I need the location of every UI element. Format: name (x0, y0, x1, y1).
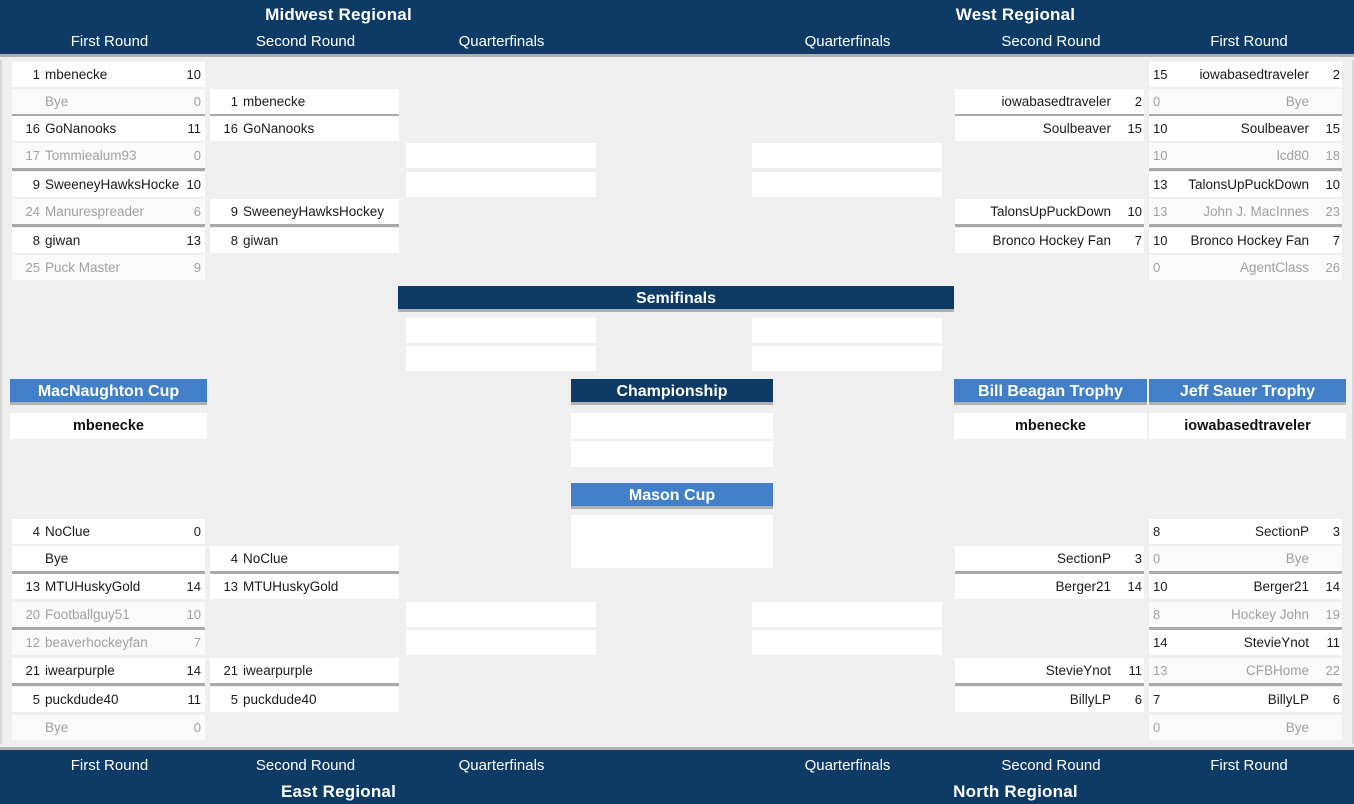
score: 10 (179, 602, 201, 627)
competitor-name: giwan (45, 228, 179, 253)
north-quarterfinal-slot-2[interactable] (752, 630, 942, 655)
match-slot[interactable]: 9 SweeneyHawksHockey (210, 199, 399, 224)
match-divider (955, 683, 1144, 686)
region-title-midwest: Midwest Regional (0, 5, 677, 25)
seed: 21 (212, 658, 238, 683)
score: 14 (1153, 630, 1175, 655)
match-slot[interactable]: 0 Bye (1149, 546, 1342, 571)
match-slot[interactable]: 1 mbenecke 10 (12, 62, 205, 87)
competitor-name: mbenecke (45, 62, 179, 87)
seed: 2 (1314, 62, 1340, 87)
competitor-name: SweeneyHawksHockey (243, 199, 395, 224)
match-slot[interactable]: 7 BillyLP 6 (1149, 687, 1342, 712)
match-divider (210, 224, 399, 227)
score: 9 (179, 255, 201, 280)
score: 10 (179, 62, 201, 87)
region-title-west: West Regional (677, 5, 1354, 25)
match-slot[interactable]: 8 Hockey John 19 (1149, 602, 1342, 627)
seed: 24 (14, 199, 40, 224)
competitor-name: StevieYnot (1175, 630, 1309, 655)
seed: 18 (1314, 143, 1340, 168)
competitor-name: Bye (1175, 715, 1309, 740)
match-slot[interactable]: 14 StevieYnot 11 (1149, 630, 1342, 655)
match-slot[interactable]: 6 BillyLP (955, 687, 1144, 712)
seed: 6 (1314, 687, 1340, 712)
match-slot[interactable]: 0 Bye (1149, 715, 1342, 740)
score: 6 (179, 199, 201, 224)
round-label-top-3: Quarterfinals (404, 33, 599, 50)
competitor-name: Footballguy51 (45, 602, 179, 627)
match-slot[interactable]: 10 Soulbeaver 15 (1149, 116, 1342, 141)
jeff-sauer-trophy-banner: Jeff Sauer Trophy (1149, 379, 1346, 405)
competitor-name: TalonsUpPuckDown (1175, 172, 1309, 197)
mason-cup-banner: Mason Cup (571, 483, 773, 509)
competitor-name: lcd80 (1175, 143, 1309, 168)
seed: 16 (212, 116, 238, 141)
seed: 25 (14, 255, 40, 280)
competitor-name: GoNanooks (45, 116, 179, 141)
competitor-name: Soulbeaver (959, 116, 1111, 141)
match-slot[interactable]: 24 Manurespreader 6 (12, 199, 205, 224)
match-slot[interactable]: 8 giwan (210, 228, 399, 253)
seed: 2 (1116, 89, 1142, 114)
match-slot[interactable]: 15 iowabasedtraveler 2 (1149, 62, 1342, 87)
competitor-name: Berger21 (959, 574, 1111, 599)
match-divider (12, 168, 205, 171)
seed: 3 (1314, 519, 1340, 544)
score: 13 (179, 228, 201, 253)
competitor-name: Manurespreader (45, 199, 179, 224)
left-edge-rule (0, 60, 2, 744)
seed: 13 (14, 574, 40, 599)
match-slot[interactable]: 10 Berger21 14 (1149, 574, 1342, 599)
seed: 14 (1116, 574, 1142, 599)
score: 7 (179, 630, 201, 655)
match-slot[interactable]: 7 Bronco Hockey Fan (955, 228, 1144, 253)
region-title-north: North Regional (677, 782, 1354, 802)
semifinal-slot-left-1[interactable] (406, 318, 596, 343)
seed: 4 (14, 519, 40, 544)
match-slot[interactable]: 13 MTUHuskyGold 14 (12, 574, 205, 599)
west-quarterfinal-slot-2[interactable] (752, 172, 942, 197)
match-slot[interactable]: 12 beaverhockeyfan 7 (12, 630, 205, 655)
seed: 22 (1314, 658, 1340, 683)
competitor-name: MTUHuskyGold (243, 574, 395, 599)
match-slot[interactable]: 10 TalonsUpPuckDown (955, 199, 1144, 224)
seed: 5 (212, 687, 238, 712)
score: 15 (1153, 62, 1175, 87)
match-slot[interactable]: 15 Soulbeaver (955, 116, 1144, 141)
macnaughton-cup-winner: mbenecke (10, 413, 207, 439)
match-slot[interactable]: 20 Footballguy51 10 (12, 602, 205, 627)
competitor-name: mbenecke (243, 89, 395, 114)
competitor-name: SectionP (1175, 519, 1309, 544)
competitor-name: GoNanooks (243, 116, 395, 141)
round-label-top-5: Second Round (952, 33, 1150, 50)
score: 10 (179, 172, 201, 197)
seed: 9 (212, 199, 238, 224)
match-slot[interactable]: 5 puckdude40 (210, 687, 399, 712)
match-slot[interactable]: 16 GoNanooks 11 (12, 116, 205, 141)
match-slot[interactable]: 21 iwearpurple (210, 658, 399, 683)
score: 8 (1153, 602, 1175, 627)
east-quarterfinal-slot-1[interactable] (406, 602, 596, 627)
competitor-name: AgentClass (1175, 255, 1309, 280)
competitor-name: TalonsUpPuckDown (959, 199, 1111, 224)
score: 10 (1153, 143, 1175, 168)
bill-beagan-trophy-banner: Bill Beagan Trophy (954, 379, 1147, 405)
score: 13 (1153, 172, 1175, 197)
round-label-bottom-3: Quarterfinals (404, 757, 599, 774)
region-title-east: East Regional (0, 782, 677, 802)
seed: 23 (1314, 199, 1340, 224)
score: 0 (179, 715, 201, 740)
competitor-name: puckdude40 (243, 687, 395, 712)
match-slot[interactable]: 8 giwan 13 (12, 228, 205, 253)
score: 0 (1153, 715, 1175, 740)
bill-beagan-trophy-winner: mbenecke (954, 413, 1147, 439)
competitor-name: BillyLP (959, 687, 1111, 712)
score: 11 (179, 116, 201, 141)
score: 0 (179, 89, 201, 114)
match-slot[interactable]: 9 SweeneyHawksHockey 10 (12, 172, 205, 197)
seed: 11 (1314, 630, 1340, 655)
match-slot[interactable]: 10 Bronco Hockey Fan 7 (1149, 228, 1342, 253)
competitor-name: Bye (45, 89, 179, 114)
championship-slot-2[interactable] (571, 441, 773, 467)
east-quarterfinal-slot-2[interactable] (406, 630, 596, 655)
semifinal-slot-right-1[interactable] (752, 318, 942, 343)
round-label-top-2: Second Round (208, 33, 403, 50)
seed: 7 (1116, 228, 1142, 253)
competitor-name: giwan (243, 228, 395, 253)
score: 8 (1153, 519, 1175, 544)
score: 10 (1153, 228, 1175, 253)
seed: 16 (14, 116, 40, 141)
seed: 7 (1314, 228, 1340, 253)
seed: 1 (14, 62, 40, 87)
match-slot[interactable]: 16 GoNanooks (210, 116, 399, 141)
competitor-name: Soulbeaver (1175, 116, 1309, 141)
match-slot[interactable]: 1 mbenecke (210, 89, 399, 114)
match-slot[interactable]: 4 NoClue (210, 546, 399, 571)
round-label-bottom-2: Second Round (208, 757, 403, 774)
match-divider (1149, 683, 1342, 686)
competitor-name: iowabasedtraveler (959, 89, 1111, 114)
competitor-name: iowabasedtraveler (1175, 62, 1309, 87)
seed: 3 (1116, 546, 1142, 571)
match-slot[interactable]: 0 AgentClass 26 (1149, 255, 1342, 280)
score: 0 (179, 519, 201, 544)
seed: 6 (1116, 687, 1142, 712)
competitor-name: Bye (1175, 546, 1309, 571)
match-slot[interactable]: 25 Puck Master 9 (12, 255, 205, 280)
match-divider (210, 683, 399, 686)
match-slot[interactable]: 8 SectionP 3 (1149, 519, 1342, 544)
competitor-name: Hockey John (1175, 602, 1309, 627)
match-slot[interactable]: 17 Tommiealum93 0 (12, 143, 205, 168)
mason-cup-slot[interactable] (571, 515, 773, 568)
seed: 19 (1314, 602, 1340, 627)
competitor-name: MTUHuskyGold (45, 574, 179, 599)
match-slot[interactable]: Bye (12, 546, 205, 571)
seed: 15 (1314, 116, 1340, 141)
round-label-bottom-5: Second Round (952, 757, 1150, 774)
competitor-name: SweeneyHawksHockey (45, 172, 179, 197)
top-header-bar: Midwest Regional West Regional First Rou… (0, 0, 1354, 57)
jeff-sauer-trophy-winner: iowabasedtraveler (1149, 413, 1346, 439)
round-label-top-1: First Round (12, 33, 207, 50)
competitor-name: John J. MacInnes (1175, 199, 1309, 224)
match-divider (12, 683, 205, 686)
competitor-name: Bye (45, 546, 179, 571)
semifinal-slot-left-2[interactable] (406, 346, 596, 371)
seed: 15 (1116, 116, 1142, 141)
seed: 20 (14, 602, 40, 627)
score: 13 (1153, 658, 1175, 683)
competitor-name: Bronco Hockey Fan (959, 228, 1111, 253)
match-slot[interactable]: 14 Berger21 (955, 574, 1144, 599)
match-slot[interactable]: 5 puckdude40 11 (12, 687, 205, 712)
competitor-name: Bye (1175, 89, 1309, 114)
round-label-bottom-1: First Round (12, 757, 207, 774)
semifinals-banner: Semifinals (398, 286, 954, 312)
match-slot[interactable]: Bye 0 (12, 89, 205, 114)
match-slot[interactable]: 13 CFBHome 22 (1149, 658, 1342, 683)
seed: 9 (14, 172, 40, 197)
midwest-quarterfinal-slot-2[interactable] (406, 172, 596, 197)
seed: 1 (212, 89, 238, 114)
seed: 10 (1116, 199, 1142, 224)
round-label-top-4: Quarterfinals (750, 33, 945, 50)
match-slot[interactable]: 13 TalonsUpPuckDown 10 (1149, 172, 1342, 197)
score: 0 (1153, 255, 1175, 280)
seed: 8 (212, 228, 238, 253)
score: 10 (1153, 574, 1175, 599)
seed: 10 (1314, 172, 1340, 197)
seed: 17 (14, 143, 40, 168)
competitor-name: NoClue (243, 546, 395, 571)
competitor-name: Berger21 (1175, 574, 1309, 599)
match-divider (955, 224, 1144, 227)
seed: 11 (1116, 658, 1142, 683)
competitor-name: beaverhockeyfan (45, 630, 179, 655)
match-slot[interactable]: 0 Bye (1149, 89, 1342, 114)
match-divider (12, 224, 205, 227)
championship-slot-1[interactable] (571, 413, 773, 439)
match-divider (1149, 224, 1342, 227)
macnaughton-cup-banner: MacNaughton Cup (10, 379, 207, 405)
seed: 4 (212, 546, 238, 571)
match-slot[interactable]: 2 iowabasedtraveler (955, 89, 1144, 114)
seed: 14 (1314, 574, 1340, 599)
round-label-bottom-4: Quarterfinals (750, 757, 945, 774)
competitor-name: Puck Master (45, 255, 179, 280)
score: 14 (179, 574, 201, 599)
bottom-header-bar: First Round Second Round Quarterfinals Q… (0, 747, 1354, 804)
championship-banner: Championship (571, 379, 773, 405)
score: 0 (179, 143, 201, 168)
midwest-quarterfinal-slot-1[interactable] (406, 143, 596, 168)
competitor-name: puckdude40 (45, 687, 179, 712)
competitor-name: StevieYnot (959, 658, 1111, 683)
competitor-name: Bronco Hockey Fan (1175, 228, 1309, 253)
score: 0 (1153, 546, 1175, 571)
north-quarterfinal-slot-1[interactable] (752, 602, 942, 627)
competitor-name: CFBHome (1175, 658, 1309, 683)
score: 13 (1153, 199, 1175, 224)
score: 0 (1153, 89, 1175, 114)
competitor-name: iwearpurple (243, 658, 395, 683)
competitor-name: NoClue (45, 519, 179, 544)
west-quarterfinal-slot-1[interactable] (752, 143, 942, 168)
score: 7 (1153, 687, 1175, 712)
competitor-name: SectionP (959, 546, 1111, 571)
competitor-name: Bye (45, 715, 179, 740)
seed: 13 (212, 574, 238, 599)
seed: 21 (14, 658, 40, 683)
score: 11 (179, 687, 201, 712)
seed: 8 (14, 228, 40, 253)
seed: 12 (14, 630, 40, 655)
competitor-name: iwearpurple (45, 658, 179, 683)
competitor-name: Tommiealum93 (45, 143, 179, 168)
match-slot[interactable]: Bye 0 (12, 715, 205, 740)
match-slot[interactable]: 4 NoClue 0 (12, 519, 205, 544)
match-divider (1149, 168, 1342, 171)
seed: 5 (14, 687, 40, 712)
match-slot[interactable]: 10 lcd80 18 (1149, 143, 1342, 168)
match-slot[interactable]: 13 MTUHuskyGold (210, 574, 399, 599)
match-slot[interactable]: 21 iwearpurple 14 (12, 658, 205, 683)
round-label-bottom-6: First Round (1150, 757, 1348, 774)
score: 14 (179, 658, 201, 683)
match-slot[interactable]: 13 John J. MacInnes 23 (1149, 199, 1342, 224)
match-slot[interactable]: 11 StevieYnot (955, 658, 1144, 683)
match-slot[interactable]: 3 SectionP (955, 546, 1144, 571)
competitor-name: BillyLP (1175, 687, 1309, 712)
seed: 26 (1314, 255, 1340, 280)
semifinal-slot-right-2[interactable] (752, 346, 942, 371)
score: 10 (1153, 116, 1175, 141)
round-label-top-6: First Round (1150, 33, 1348, 50)
